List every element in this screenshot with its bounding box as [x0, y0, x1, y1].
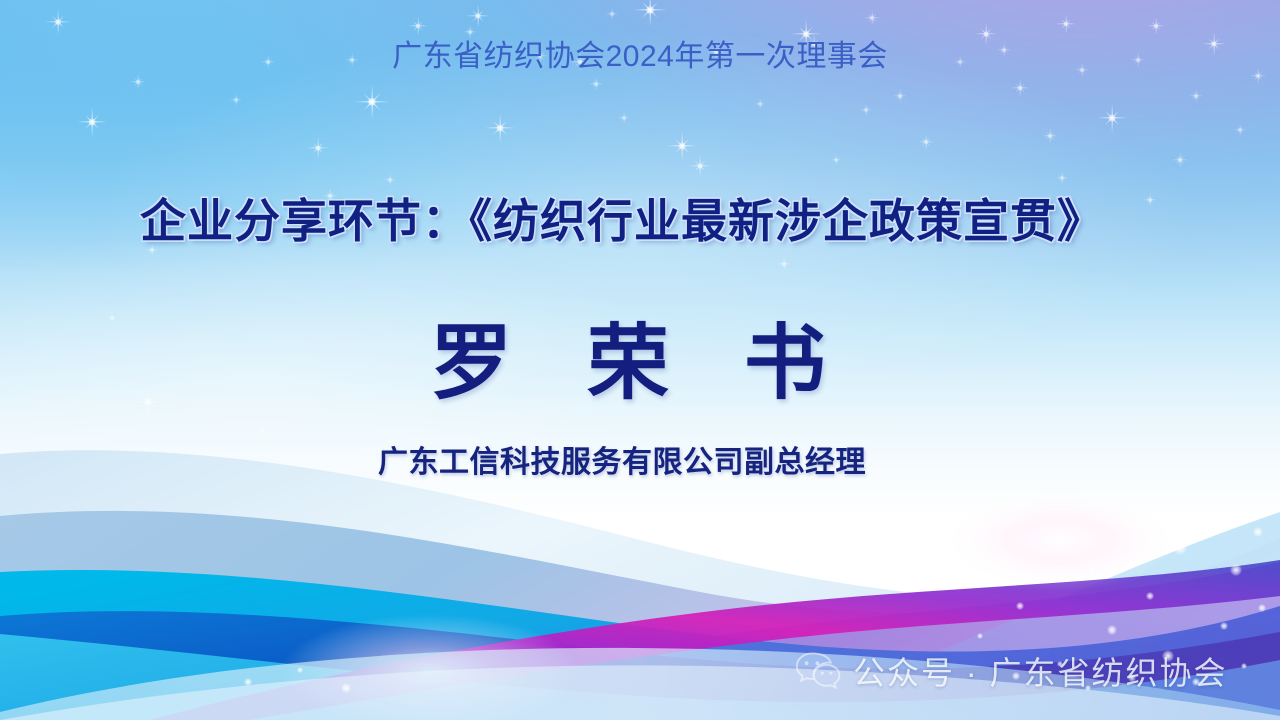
- event-header-title: 广东省纺织协会2024年第一次理事会: [0, 31, 1280, 75]
- page-title: 企业分享环节：《纺织行业最新涉企政策宣贯》: [0, 185, 1262, 251]
- speaker-name: 罗 荣 书: [0, 296, 1268, 415]
- speaker-role: 广东工信科技服务有限公司副总经理: [0, 437, 1262, 481]
- watermark-label: 公众号 · 广东省纺织协会: [853, 648, 1227, 694]
- wechat-icon: [795, 651, 841, 691]
- wechat-watermark: 公众号 · 广东省纺织协会: [795, 648, 1227, 694]
- presentation-slide: 广东省纺织协会2024年第一次理事会 企业分享环节：《纺织行业最新涉企政策宣贯》…: [0, 0, 1280, 720]
